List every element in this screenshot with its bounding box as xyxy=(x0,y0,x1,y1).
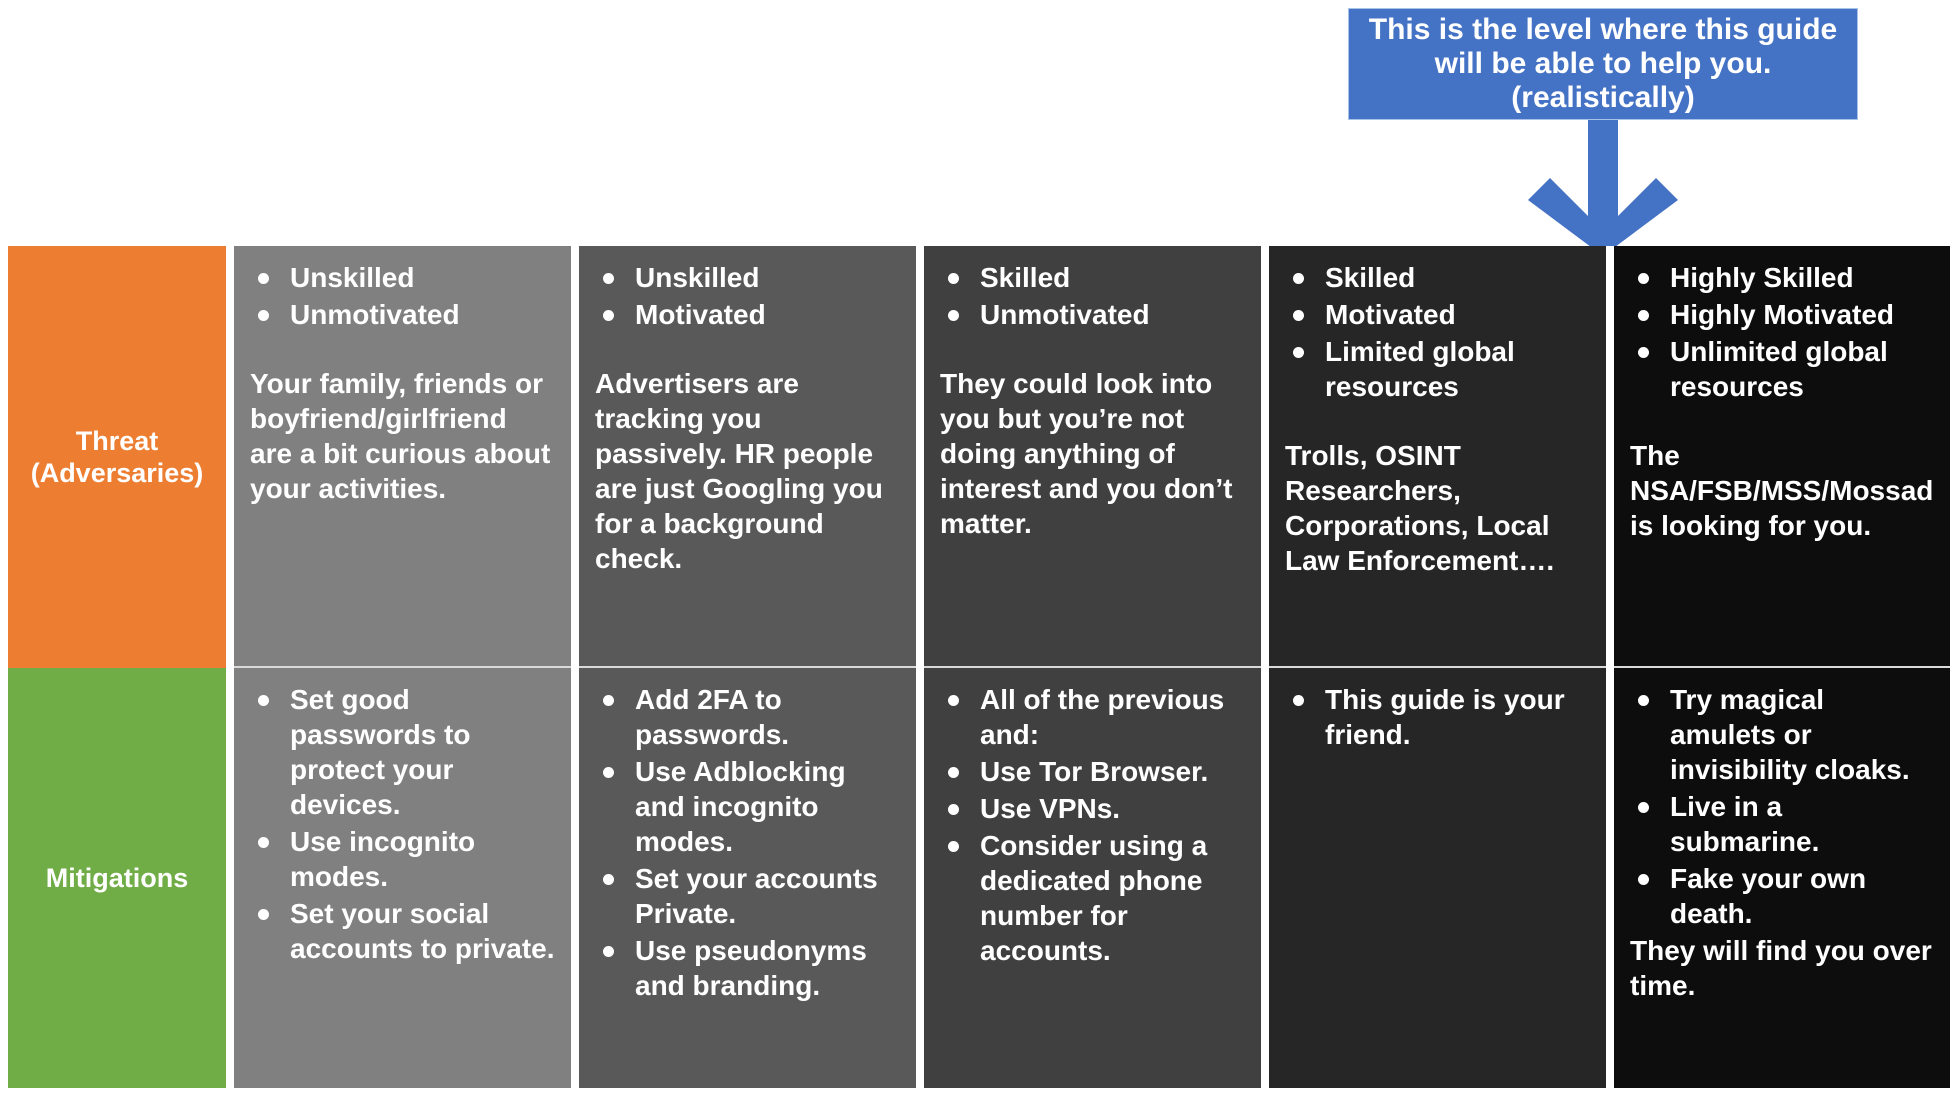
grid-gap xyxy=(226,668,234,1088)
arrow-down-icon xyxy=(1528,120,1678,256)
grid-gap xyxy=(571,246,579,668)
mitigations-bullets-level-5: Try magical amulets or invisibility cloa… xyxy=(1630,682,1934,931)
list-item: Unskilled xyxy=(595,260,900,295)
threat-description-level-2: Advertisers are tracking you passively. … xyxy=(595,366,900,576)
row-header-threat: Threat (Adversaries) xyxy=(8,246,226,668)
list-item: Live in a submarine. xyxy=(1630,789,1934,859)
mitigations-cell-level-4: This guide is your friend. xyxy=(1269,668,1606,1088)
grid-gap xyxy=(1261,668,1269,1088)
list-item: Motivated xyxy=(1285,297,1590,332)
grid-gap xyxy=(571,668,579,1088)
list-item: Set your accounts Private. xyxy=(595,861,900,931)
threat-cell-level-1: Unskilled Unmotivated Your family, frien… xyxy=(234,246,571,668)
threat-bullets-level-4: Skilled Motivated Limited global resourc… xyxy=(1285,260,1590,404)
grid-gap xyxy=(1261,246,1269,668)
threat-description-level-5: The NSA/FSB/MSS/Mossad is looking for yo… xyxy=(1630,438,1934,543)
list-item: Use Adblocking and incognito modes. xyxy=(595,754,900,859)
mitigations-description-level-5: They will find you over time. xyxy=(1630,933,1934,1003)
list-item: Limited global resources xyxy=(1285,334,1590,404)
threat-cell-level-3: Skilled Unmotivated They could look into… xyxy=(924,246,1261,668)
threat-bullets-level-3: Skilled Unmotivated xyxy=(940,260,1245,332)
list-item: Set good passwords to protect your devic… xyxy=(250,682,555,822)
list-item: Add 2FA to passwords. xyxy=(595,682,900,752)
threat-description-level-3: They could look into you but you’re not … xyxy=(940,366,1245,541)
threat-description-level-1: Your family, friends or boyfriend/girlfr… xyxy=(250,366,555,506)
row-header-threat-line2: (Adversaries) xyxy=(31,458,204,488)
grid-gap xyxy=(1606,668,1614,1088)
row-header-threat-label: Threat (Adversaries) xyxy=(31,425,204,490)
list-item: This guide is your friend. xyxy=(1285,682,1590,752)
list-item: Use incognito modes. xyxy=(250,824,555,894)
callout-line-3: (realistically) xyxy=(1511,81,1694,115)
list-item: Use VPNs. xyxy=(940,791,1245,826)
mitigations-cell-level-5: Try magical amulets or invisibility cloa… xyxy=(1614,668,1950,1088)
mitigations-bullets-level-4: This guide is your friend. xyxy=(1285,682,1590,752)
callout-box: This is the level where this guide will … xyxy=(1348,8,1858,120)
row-header-mitigations-label: Mitigations xyxy=(46,862,189,894)
list-item: Unmotivated xyxy=(250,297,555,332)
list-item: Unskilled xyxy=(250,260,555,295)
callout-group: This is the level where this guide will … xyxy=(1348,8,1858,248)
list-item: Skilled xyxy=(1285,260,1590,295)
list-item: All of the previous and: xyxy=(940,682,1245,752)
list-item: Use Tor Browser. xyxy=(940,754,1245,789)
callout-line-1: This is the level where this guide xyxy=(1369,13,1837,47)
threat-bullets-level-5: Highly Skilled Highly Motivated Unlimite… xyxy=(1630,260,1934,404)
threat-description-level-4: Trolls, OSINT Researchers, Corporations,… xyxy=(1285,438,1590,578)
list-item: Highly Skilled xyxy=(1630,260,1934,295)
threat-cell-level-2: Unskilled Motivated Advertisers are trac… xyxy=(579,246,916,668)
mitigations-cell-level-2: Add 2FA to passwords. Use Adblocking and… xyxy=(579,668,916,1088)
list-item: Skilled xyxy=(940,260,1245,295)
list-item: Consider using a dedicated phone number … xyxy=(940,828,1245,968)
grid-gap xyxy=(1606,246,1614,668)
mitigations-cell-level-1: Set good passwords to protect your devic… xyxy=(234,668,571,1088)
row-header-threat-line1: Threat xyxy=(76,426,159,456)
threat-bullets-level-2: Unskilled Motivated xyxy=(595,260,900,332)
grid-gap xyxy=(916,246,924,668)
list-item: Use pseudonyms and branding. xyxy=(595,933,900,1003)
list-item: Fake your own death. xyxy=(1630,861,1934,931)
list-item: Highly Motivated xyxy=(1630,297,1934,332)
grid-gap xyxy=(226,246,234,668)
callout-line-2: will be able to help you. xyxy=(1435,47,1772,81)
mitigations-bullets-level-1: Set good passwords to protect your devic… xyxy=(250,682,555,966)
list-item: Set your social accounts to private. xyxy=(250,896,555,966)
list-item: Unmotivated xyxy=(940,297,1245,332)
threat-model-matrix: Threat (Adversaries) Unskilled Unmotivat… xyxy=(8,246,1950,1088)
mitigations-bullets-level-3: All of the previous and: Use Tor Browser… xyxy=(940,682,1245,968)
mitigations-cell-level-3: All of the previous and: Use Tor Browser… xyxy=(924,668,1261,1088)
list-item: Try magical amulets or invisibility cloa… xyxy=(1630,682,1934,787)
row-header-mitigations: Mitigations xyxy=(8,668,226,1088)
threat-bullets-level-1: Unskilled Unmotivated xyxy=(250,260,555,332)
grid-gap xyxy=(916,668,924,1088)
threat-cell-level-4: Skilled Motivated Limited global resourc… xyxy=(1269,246,1606,668)
list-item: Motivated xyxy=(595,297,900,332)
list-item: Unlimited global resources xyxy=(1630,334,1934,404)
threat-cell-level-5: Highly Skilled Highly Motivated Unlimite… xyxy=(1614,246,1950,668)
mitigations-bullets-level-2: Add 2FA to passwords. Use Adblocking and… xyxy=(595,682,900,1003)
